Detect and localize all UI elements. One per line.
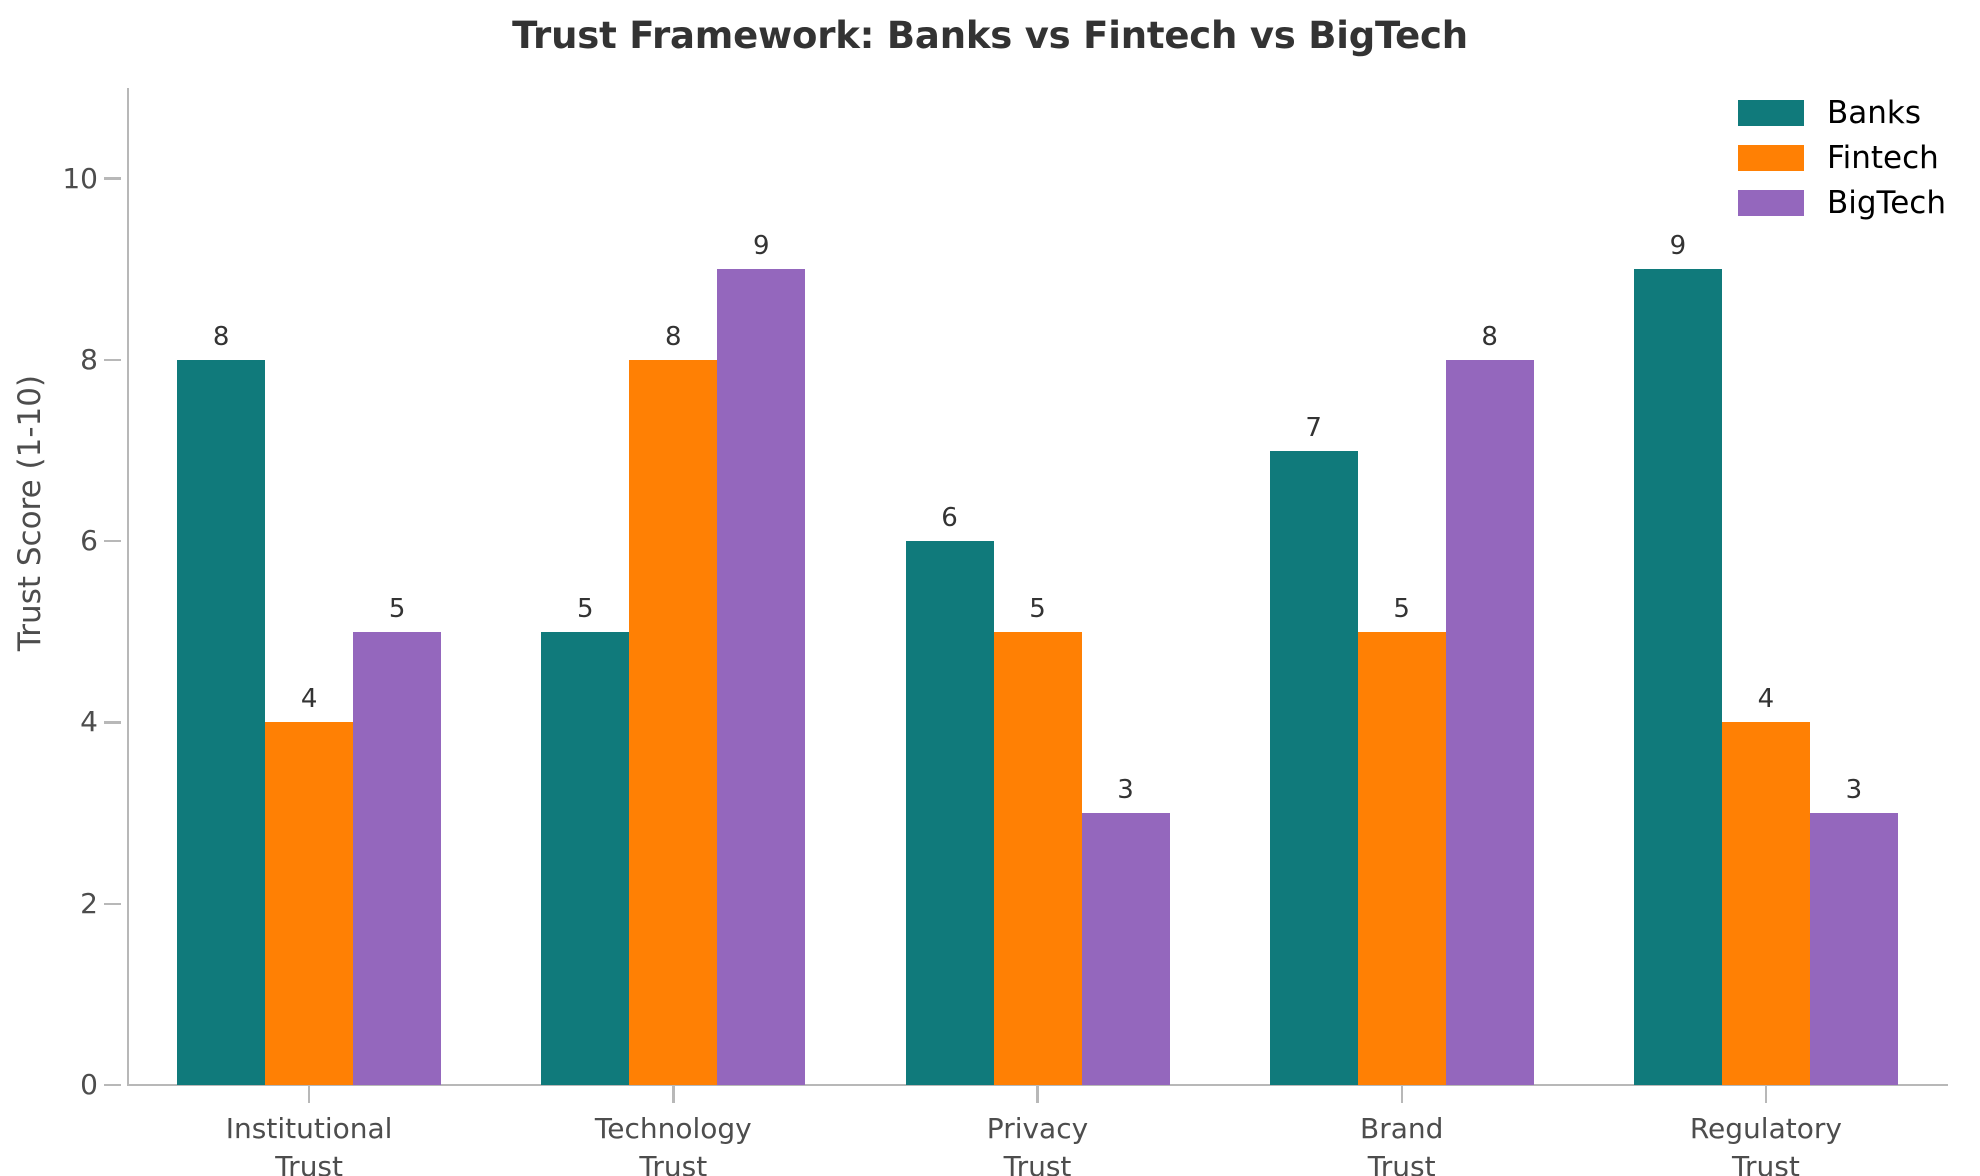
bar-value-label: 4 (1666, 684, 1866, 714)
bar-value-label: 9 (1578, 231, 1778, 261)
bar-banks-5[interactable] (1634, 269, 1722, 1085)
legend-swatch-fintech (1738, 145, 1804, 171)
bar-banks-1[interactable] (177, 360, 265, 1085)
bar-value-label: 7 (1214, 413, 1414, 443)
y-tick-mark (104, 721, 121, 723)
bar-bigtech-1[interactable] (353, 632, 441, 1085)
y-tick-label: 4 (80, 703, 98, 741)
x-tick-label: Brand Trust (1202, 1110, 1602, 1176)
x-tick-label: Institutional Trust (109, 1110, 509, 1176)
bar-banks-4[interactable] (1270, 451, 1358, 1085)
y-axis-label: Trust Score (1-10) (12, 13, 48, 1013)
legend-swatch-banks (1738, 100, 1804, 126)
bar-fintech-2[interactable] (629, 360, 717, 1085)
legend-label: Fintech (1827, 141, 1939, 175)
y-tick-mark (104, 1084, 121, 1086)
bar-banks-2[interactable] (541, 632, 629, 1085)
x-tick-label: Privacy Trust (838, 1110, 1238, 1176)
y-tick-label: 6 (80, 522, 98, 560)
x-tick-mark (308, 1086, 310, 1103)
x-tick-mark (672, 1086, 674, 1103)
bar-value-label: 5 (938, 594, 1138, 624)
chart-figure: Trust Framework: Banks vs Fintech vs Big… (0, 0, 1980, 1176)
bar-fintech-3[interactable] (994, 632, 1082, 1085)
y-tick-label: 8 (80, 341, 98, 379)
y-tick-label: 0 (80, 1066, 98, 1104)
bar-bigtech-4[interactable] (1446, 360, 1534, 1085)
bar-fintech-4[interactable] (1358, 632, 1446, 1085)
bar-value-label: 6 (850, 503, 1050, 533)
x-tick-label: Regulatory Trust (1566, 1110, 1966, 1176)
legend-swatch-bigtech (1738, 190, 1804, 216)
x-tick-mark (1765, 1086, 1767, 1103)
x-tick-label: Technology Trust (473, 1110, 873, 1176)
legend-label: BigTech (1827, 186, 1946, 220)
bar-value-label: 3 (1026, 775, 1226, 805)
bar-value-label: 3 (1754, 775, 1954, 805)
legend-item-bigtech[interactable]: BigTech (1738, 186, 1946, 220)
chart-legend: BanksFintechBigTech (1738, 96, 1946, 220)
y-tick-mark (104, 177, 121, 179)
y-tick-mark (104, 903, 121, 905)
bar-value-label: 8 (1390, 322, 1590, 352)
y-tick-mark (104, 540, 121, 542)
bar-value-label: 8 (121, 322, 321, 352)
x-tick-mark (1036, 1086, 1038, 1103)
bar-bigtech-3[interactable] (1082, 813, 1170, 1085)
bar-fintech-1[interactable] (265, 722, 353, 1085)
chart-title: Trust Framework: Banks vs Fintech vs Big… (0, 14, 1980, 57)
y-tick-mark (104, 359, 121, 361)
legend-item-fintech[interactable]: Fintech (1738, 141, 1946, 175)
plot-area: 856794855459383 (127, 88, 1948, 1085)
y-tick-label: 10 (62, 160, 98, 198)
y-tick-label: 2 (80, 885, 98, 923)
legend-label: Banks (1827, 96, 1921, 130)
bar-bigtech-2[interactable] (717, 269, 805, 1085)
legend-item-banks[interactable]: Banks (1738, 96, 1946, 130)
bar-value-label: 5 (297, 594, 497, 624)
bar-value-label: 9 (661, 231, 861, 261)
bar-bigtech-5[interactable] (1810, 813, 1898, 1085)
x-tick-mark (1401, 1086, 1403, 1103)
